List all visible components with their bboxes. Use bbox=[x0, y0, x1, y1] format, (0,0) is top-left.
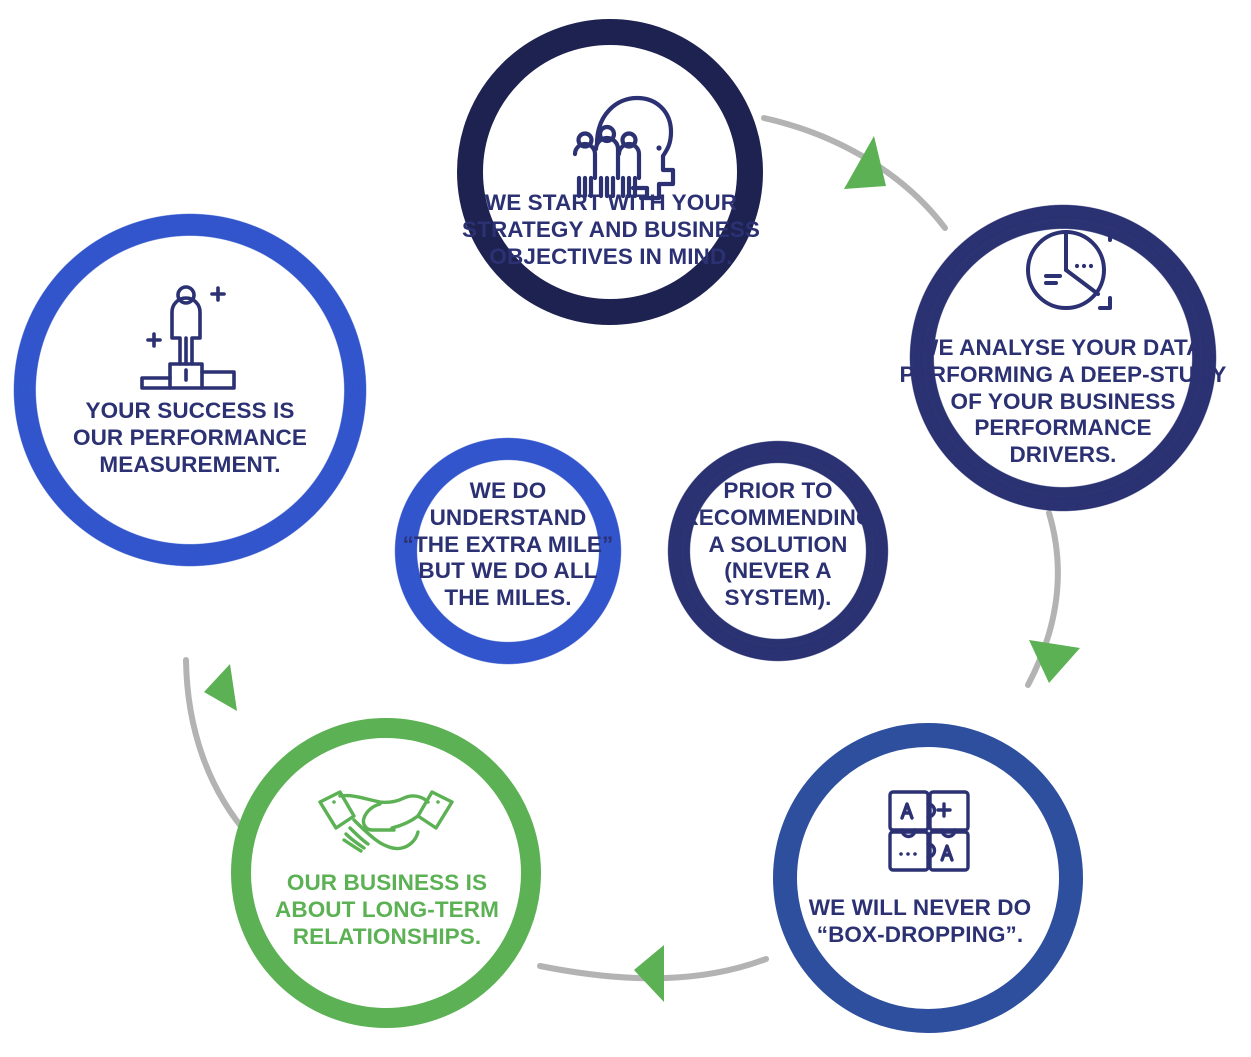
node-label-strategy: WE START WITH YOUR STRATEGY AND BUSINESS… bbox=[452, 190, 770, 270]
node-ring-success[interactable] bbox=[14, 214, 366, 566]
node-label-extramile: WE DO UNDERSTAND “THE EXTRA MILE” BUT WE… bbox=[392, 478, 624, 612]
arrow-bottom-left-icon bbox=[634, 945, 664, 1002]
node-label-prior: PRIOR TO RECOMMENDING A SOLUTION (NEVER … bbox=[672, 478, 884, 612]
arrow-top-right-icon bbox=[844, 136, 886, 189]
node-label-analyse: WE ANALYSE YOUR DATA, PERFORMING A DEEP-… bbox=[898, 335, 1228, 469]
arrow-left-up-icon bbox=[204, 664, 237, 711]
node-label-boxdropping: WE WILL NEVER DO “BOX-DROPPING”. bbox=[770, 895, 1070, 949]
node-label-relationships: OUR BUSINESS IS ABOUT LONG-TERM RELATION… bbox=[228, 870, 546, 950]
node-ring-boxdropping[interactable] bbox=[785, 735, 1071, 1021]
infographic-canvas: WE START WITH YOUR STRATEGY AND BUSINESS… bbox=[0, 0, 1251, 1057]
node-label-success: YOUR SUCCESS IS OUR PERFORMANCE MEASUREM… bbox=[20, 398, 360, 478]
